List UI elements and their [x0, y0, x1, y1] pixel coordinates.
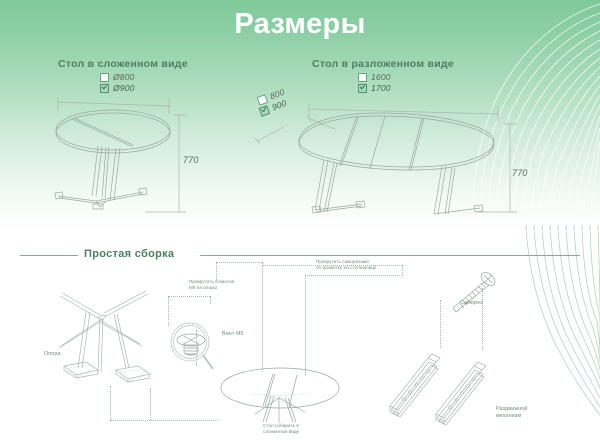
route-line-7: [305, 275, 306, 375]
route-line-6: [305, 275, 402, 276]
route-line-1: [262, 262, 263, 372]
assembly-section-band: Простая сборка: [20, 248, 580, 262]
route-line-11: [110, 386, 111, 420]
annotation-bolts-line1: Прикрутить 8 винтов: [189, 279, 234, 284]
section-heading-extended-view: Стол в разложенном виде: [312, 58, 454, 70]
route-line-14: [196, 330, 197, 366]
checkbox-length-1600[interactable]: [358, 73, 367, 82]
annotation-assemble-folded: Стол собирать всложенном виде: [263, 423, 299, 435]
route-line-3: [216, 262, 217, 280]
dimension-height-extended: 770: [512, 168, 528, 178]
route-line-5: [402, 265, 403, 275]
folded-table-drawing: [40, 88, 270, 213]
assembly-rule-left: [20, 255, 78, 256]
part-label-support: Опора: [44, 351, 61, 358]
part-label-self-tapping-screw: Саморез: [460, 300, 483, 307]
annotation-assemble-folded-line2: сложенном виде: [263, 429, 299, 434]
route-line-2: [216, 262, 262, 263]
annotation-bolts-line2: М6 на опоры: [189, 285, 217, 290]
route-line-8: [168, 296, 169, 326]
page-title: Размеры: [0, 7, 600, 41]
part-label-sliding-mechanism: Раздвижноймеханизм: [496, 406, 527, 420]
dimension-height-folded: 770: [183, 155, 199, 165]
route-line-10: [210, 296, 211, 304]
annotation-bolts: Прикрутить 8 винтовМ6 на опоры: [189, 279, 234, 291]
route-line-16: [482, 288, 483, 350]
route-line-13: [150, 388, 151, 420]
part-label-bolt-m6: Винт М6: [222, 331, 244, 338]
checkbox-diameter-800[interactable]: [100, 73, 109, 82]
part-label-sliding-mechanism-line2: механизм: [496, 413, 521, 419]
option-row-diameter-800[interactable]: Ø800: [100, 72, 135, 82]
option-label-diameter-800: Ø800: [113, 72, 135, 82]
self-tapping-screw-drawing: [443, 272, 503, 314]
sliding-mechanism-drawing: [384, 344, 500, 432]
extended-table-drawing: [252, 86, 552, 214]
annotation-screws: Прикрутить саморезамипо разметке на стол…: [316, 259, 377, 271]
annotation-screws-line1: Прикрутить саморезами: [316, 259, 369, 264]
section-heading-folded-view: Стол в сложенном виде: [58, 58, 188, 70]
assembly-rule-right: [200, 255, 580, 256]
option-row-length-1600[interactable]: 1600: [358, 72, 391, 82]
annotation-screws-line2: по разметке на столешнице: [316, 265, 377, 270]
poster-canvas: Размеры Стол в сложенном виде Ø800 Ø900: [0, 0, 600, 440]
section-divider: [0, 231, 600, 232]
route-line-12: [110, 420, 218, 421]
annotation-assemble-folded-line1: Стол собирать в: [263, 423, 299, 428]
part-label-sliding-mechanism-line1: Раздвижной: [496, 406, 527, 412]
option-label-length-1600: 1600: [371, 72, 391, 82]
route-line-9: [168, 296, 210, 297]
support-leg-drawing: [28, 282, 188, 392]
route-line-15: [440, 300, 441, 348]
assembly-title: Простая сборка: [84, 248, 174, 260]
assembled-table-drawing: [215, 366, 345, 424]
